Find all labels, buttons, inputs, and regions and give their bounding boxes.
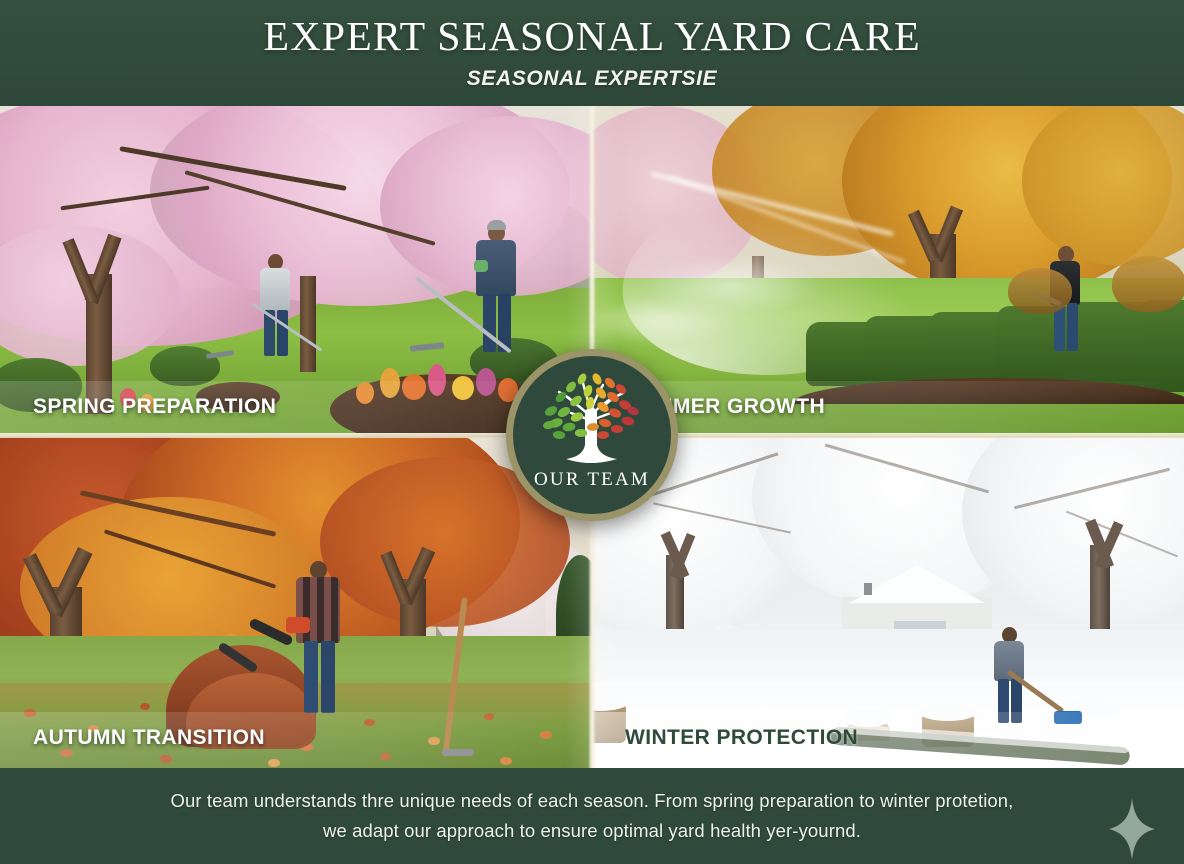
footer-line-1: Our team understands thre unique needs o…: [171, 790, 1014, 811]
winter-scene-image: [592, 437, 1184, 768]
quadrant-label-winter: WINTER PROTECTION: [625, 726, 858, 750]
quadrant-autumn[interactable]: AUTUMN TRANSITION: [0, 437, 592, 768]
footer-line-2: we adapt our approach to ensure optimal …: [323, 820, 861, 841]
our-team-badge[interactable]: OUR TEAM: [506, 349, 678, 521]
summer-scene-image: [592, 106, 1184, 437]
spring-scene-image: [0, 106, 592, 437]
autumn-scene-image: [0, 437, 592, 768]
quadrant-spring[interactable]: SPRING PREPARATION: [0, 106, 592, 437]
quadrant-label-autumn: AUTUMN TRANSITION: [33, 726, 265, 750]
poster-footer: Our team understands thre unique needs o…: [0, 768, 1184, 864]
page-subtitle: SEASONAL EXPERTSIE: [467, 67, 717, 91]
page-title: EXPERT SEASONAL YARD CARE: [263, 15, 920, 58]
quadrant-label-spring: SPRING PREPARATION: [33, 395, 276, 419]
quadrant-summer[interactable]: SUMMER GROWTH: [592, 106, 1184, 437]
seasonal-tree-logo-icon: [533, 367, 651, 472]
seasonal-yard-care-poster: EXPERT SEASONAL YARD CARE SEASONAL EXPER…: [0, 0, 1184, 864]
quadrant-winter[interactable]: WINTER PROTECTION: [592, 437, 1184, 768]
poster-header: EXPERT SEASONAL YARD CARE SEASONAL EXPER…: [0, 0, 1184, 106]
badge-label: OUR TEAM: [534, 469, 650, 491]
footer-paragraph: Our team understands thre unique needs o…: [77, 786, 1107, 846]
four-point-star-icon: [1108, 798, 1156, 864]
